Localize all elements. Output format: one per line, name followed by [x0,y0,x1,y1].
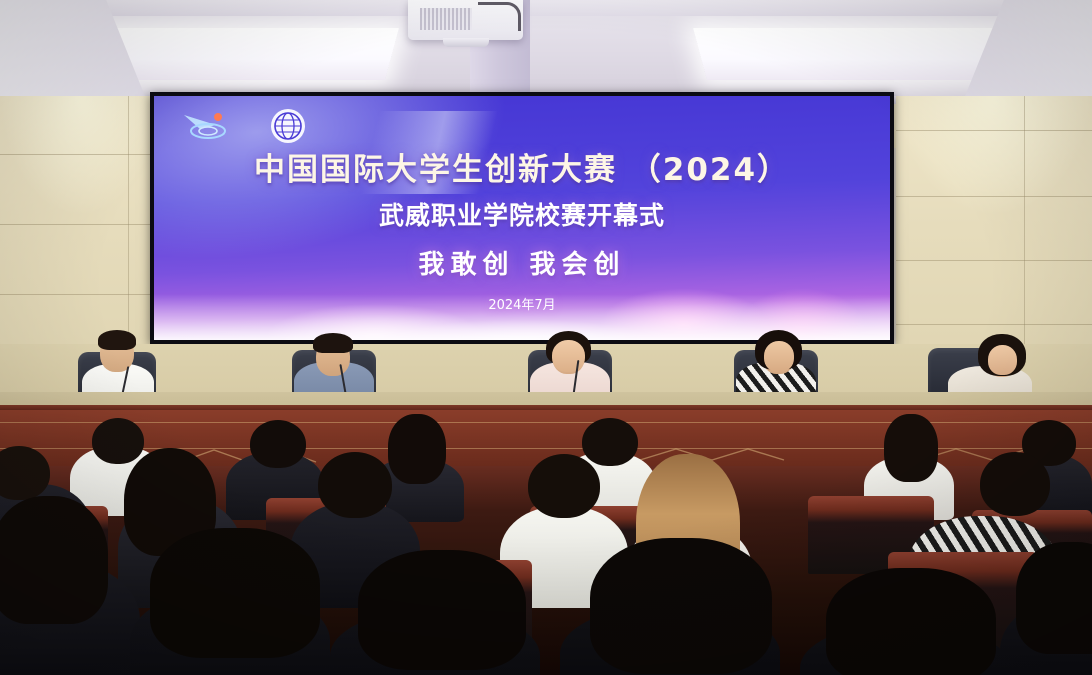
screen-subtitle: 武威职业学院校赛开幕式 [154,196,890,232]
wall-right-glow [896,96,1092,216]
globe-emblem-logo [268,106,308,146]
screen-title: 中国国际大学生创新大赛 （2024） [154,144,890,189]
comet-swoosh-logo [182,109,238,143]
conference-hall-photo: 中国国际大学生创新大赛 （2024） 武威职业学院校赛开幕式 我敢创 我会创 2… [0,0,1092,675]
projector-vent [420,8,472,30]
ceiling-beam-top [0,0,1092,16]
ceiling-projector [408,0,523,40]
projector-cable [478,2,521,31]
screen-date: 2024年7月 [154,294,890,313]
screen-slogan: 我敢创 我会创 [154,244,890,281]
audience-area [0,410,1092,675]
led-screen: 中国国际大学生创新大赛 （2024） 武威职业学院校赛开幕式 我敢创 我会创 2… [154,96,890,340]
screen-logo-row [182,106,308,146]
led-screen-bezel: 中国国际大学生创新大赛 （2024） 武威职业学院校赛开幕式 我敢创 我会创 2… [150,92,894,344]
projector-lens [443,38,489,47]
wall-left-glow [0,96,160,216]
